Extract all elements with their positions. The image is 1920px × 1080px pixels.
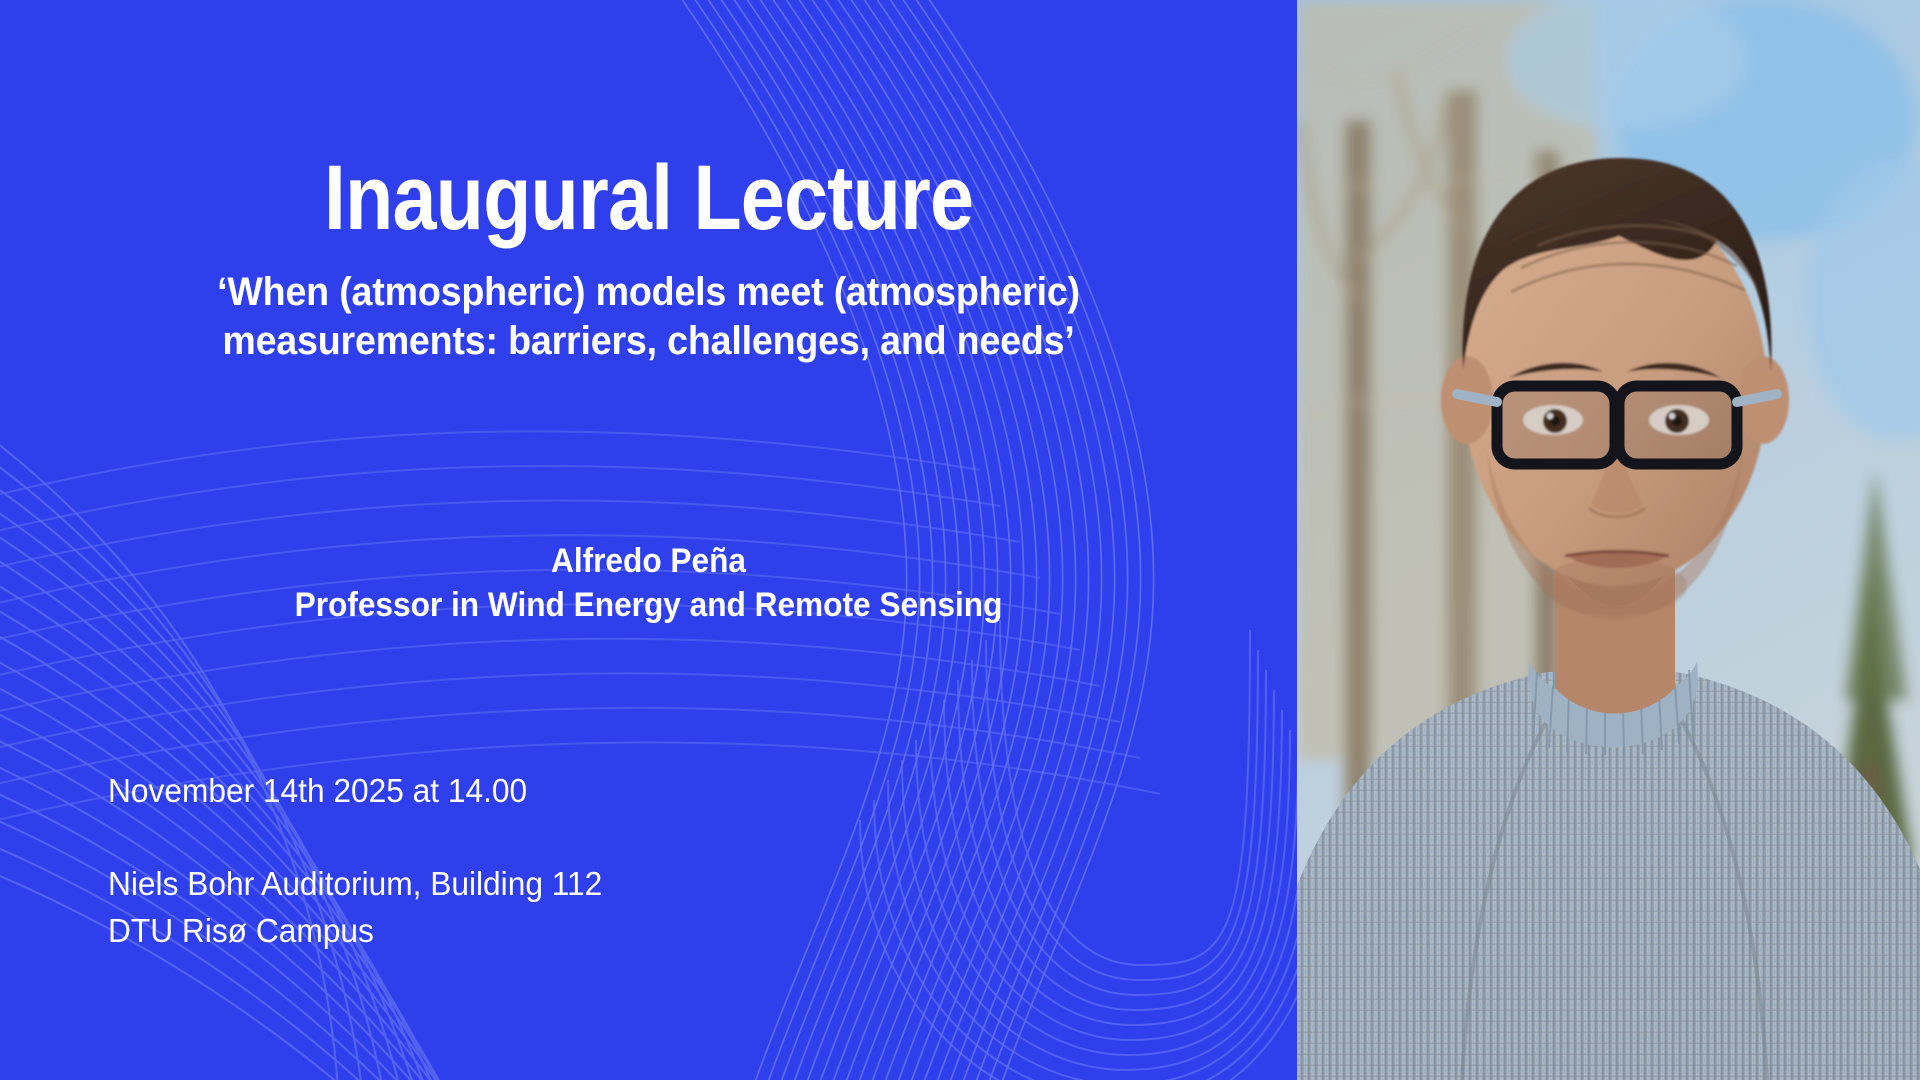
speaker-block: Alfredo Peña Professor in Wind Energy an…	[45, 540, 1251, 627]
page-title: Inaugural Lecture	[91, 150, 1206, 247]
event-venue-line-1: Niels Bohr Auditorium, Building 112	[108, 861, 602, 908]
speaker-role: Professor in Wind Energy and Remote Sens…	[45, 584, 1251, 628]
inaugural-lecture-poster: Inaugural Lecture ‘When (atmospheric) mo…	[0, 0, 1920, 1080]
subtitle-line-2: measurements: barriers, challenges, and …	[95, 317, 1201, 366]
event-venue-line-2: DTU Risø Campus	[108, 908, 602, 955]
lecture-subtitle: ‘When (atmospheric) models meet (atmosph…	[95, 268, 1201, 366]
left-blue-panel: Inaugural Lecture ‘When (atmospheric) mo…	[0, 0, 1297, 1080]
poster-text-content: Inaugural Lecture ‘When (atmospheric) mo…	[0, 0, 1297, 1080]
portrait-illustration	[1297, 0, 1920, 1080]
subtitle-line-1: ‘When (atmospheric) models meet (atmosph…	[95, 268, 1201, 317]
event-details-block: November 14th 2025 at 14.00 Niels Bohr A…	[108, 768, 602, 955]
speaker-name: Alfredo Peña	[45, 540, 1251, 584]
event-datetime: November 14th 2025 at 14.00	[108, 768, 602, 815]
speaker-portrait-photo	[1297, 0, 1920, 1080]
